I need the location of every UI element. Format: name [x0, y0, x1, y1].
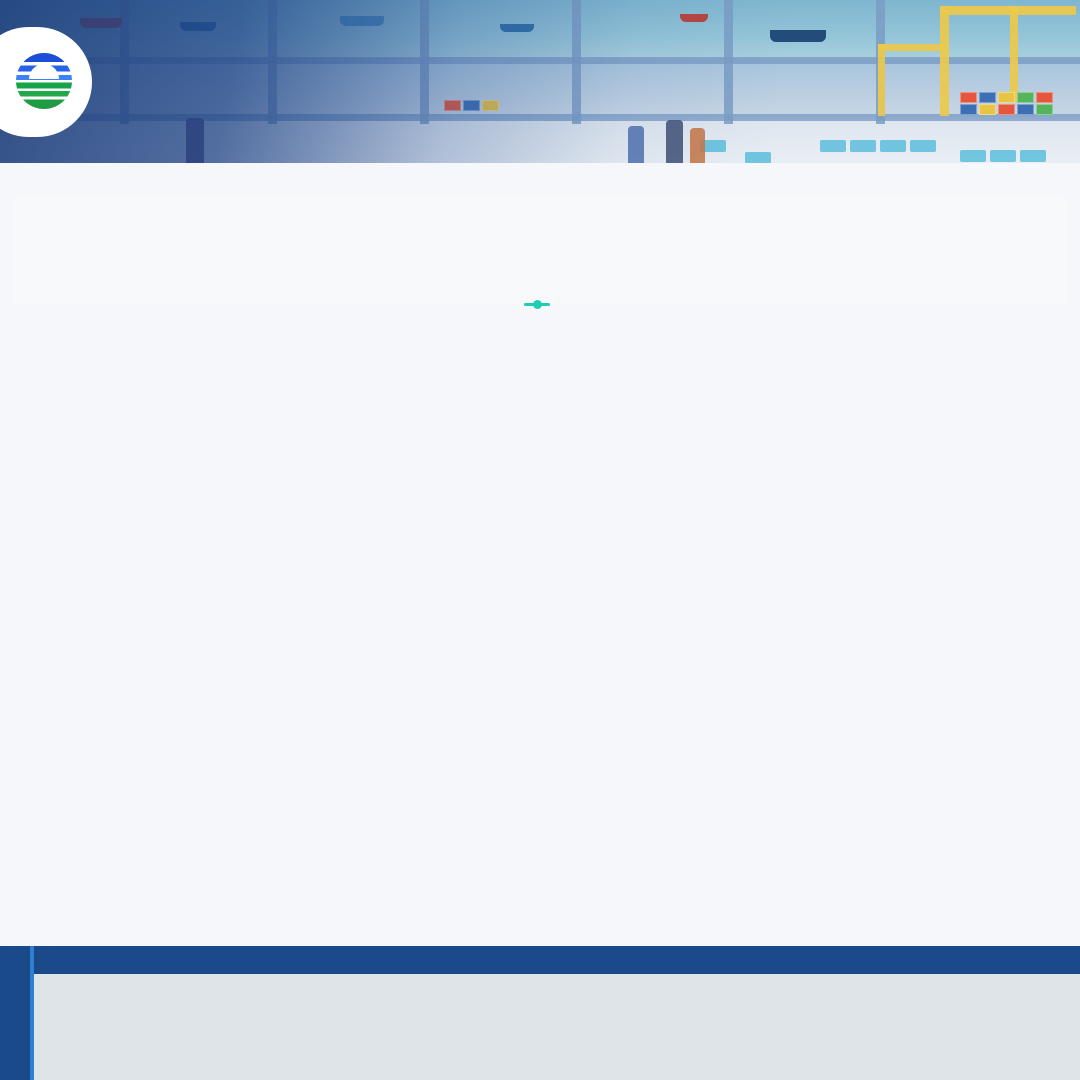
legend-item-row [38, 976, 1078, 1080]
chart-legend-marker-icon [524, 303, 550, 306]
legend-side-banner [0, 946, 34, 1080]
sst-chart-svg [14, 197, 1066, 301]
sst-chart [14, 197, 1066, 305]
bmkg-emblem-icon [16, 53, 72, 109]
legend-note [34, 946, 1080, 974]
header-gradient-overlay [0, 0, 1080, 163]
page-header [0, 0, 1080, 163]
legend-strip [0, 946, 1080, 1080]
